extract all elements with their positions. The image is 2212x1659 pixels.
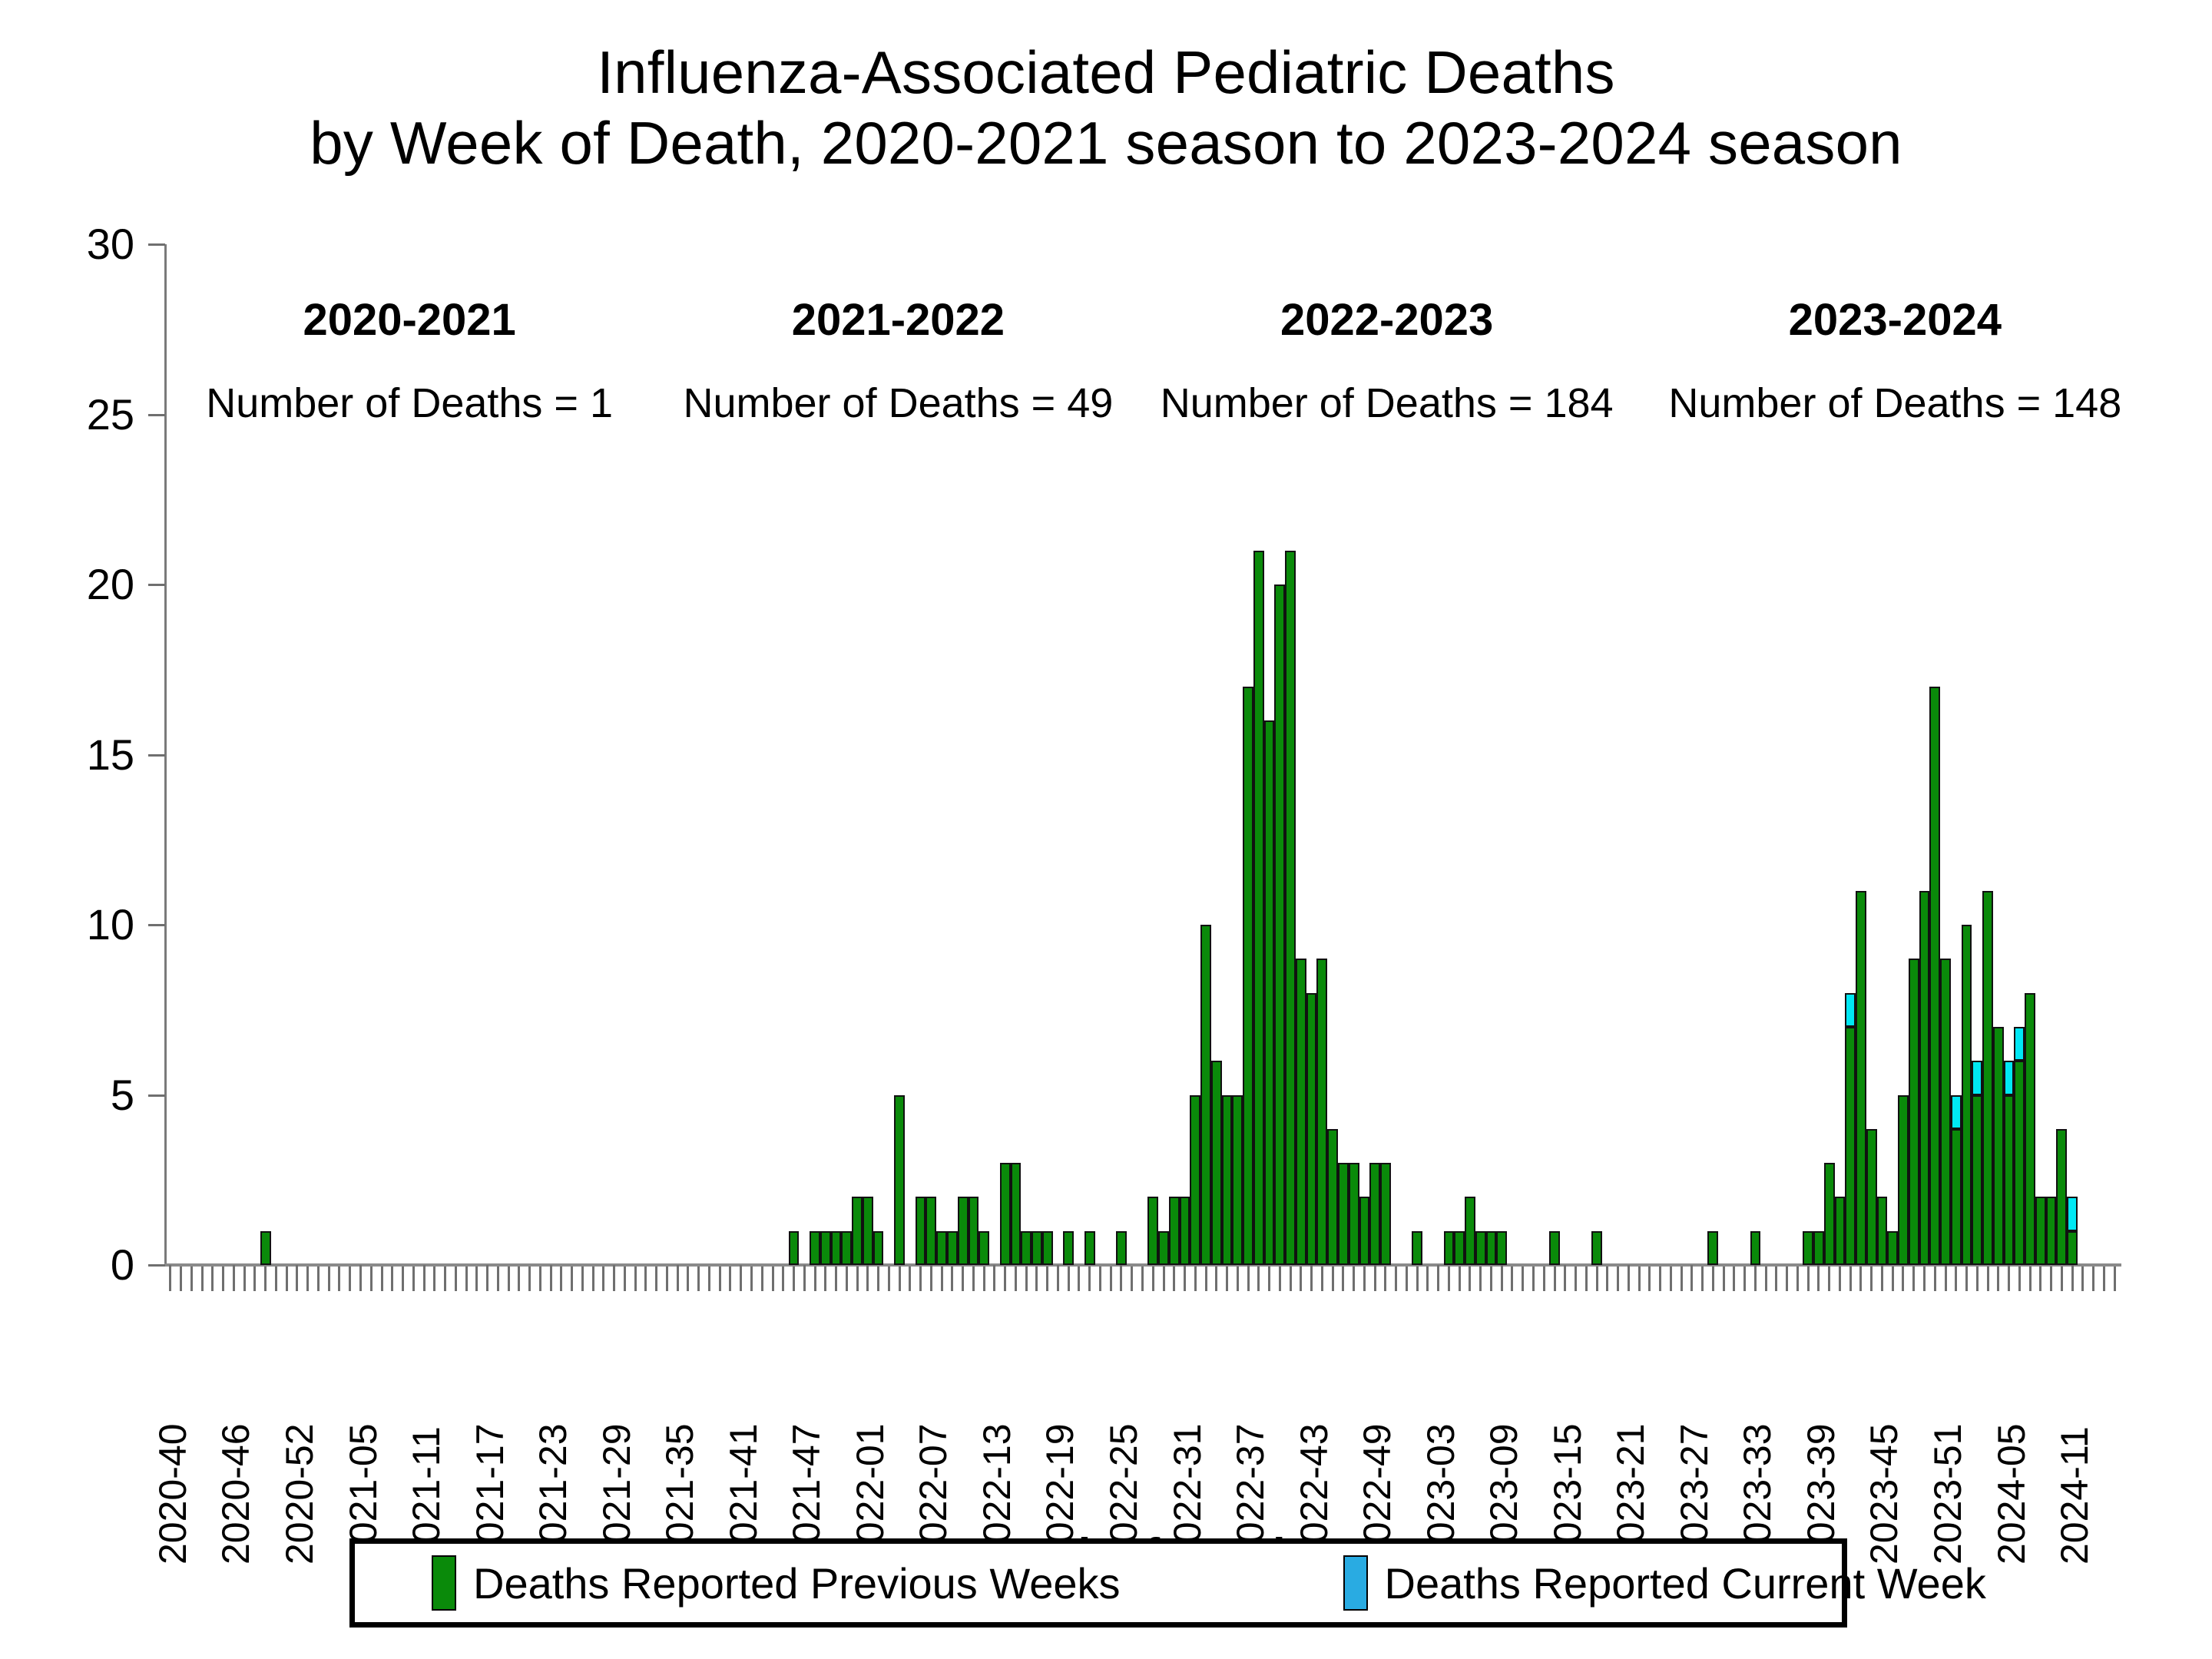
bar [1412, 1231, 1422, 1265]
bar [1824, 1163, 1835, 1265]
x-axis-tick [1426, 1267, 1429, 1291]
bar [1972, 1061, 1982, 1265]
x-axis-tick [1300, 1267, 1302, 1291]
x-axis-tick [1807, 1267, 1810, 1291]
bar-segment-previous-weeks [1031, 1231, 1042, 1265]
x-axis-tick-major [613, 1265, 615, 1291]
bar [1338, 1163, 1349, 1265]
bar-segment-previous-weeks [947, 1231, 958, 1265]
x-axis-tick [581, 1267, 584, 1291]
x-axis-tick-major [930, 1265, 932, 1291]
x-axis-tick [1522, 1267, 1524, 1291]
x-axis-tick [264, 1267, 267, 1291]
x-axis-tick [1131, 1267, 1133, 1291]
x-axis-tick [328, 1267, 330, 1291]
bar-segment-previous-weeks [863, 1197, 873, 1265]
x-axis-tick [1384, 1267, 1386, 1291]
legend-item-current-week: Deaths Reported Current Week [1343, 1555, 1986, 1611]
plot-area: 051015202530 2020-402020-462020-522021-0… [165, 244, 2120, 1265]
season-death-count: Number of Deaths = 148 [1549, 379, 2212, 427]
x-axis-tick [1363, 1267, 1366, 1291]
bar [1909, 959, 1919, 1265]
x-axis-tick [2061, 1267, 2063, 1291]
bar [1180, 1197, 1190, 1265]
legend-item-previous-weeks: Deaths Reported Previous Weeks [432, 1555, 1121, 1611]
bar [1200, 925, 1211, 1265]
x-axis-tick [508, 1267, 510, 1291]
bar [1856, 891, 1866, 1265]
x-axis-tick-major [1247, 1265, 1250, 1291]
y-axis-tick-label: 20 [0, 563, 134, 606]
bar [1866, 1129, 1877, 1265]
bar-segment-previous-weeks [1158, 1231, 1169, 1265]
bar-segment-previous-weeks [1063, 1231, 1074, 1265]
x-axis-tick [761, 1267, 763, 1291]
x-axis-tick-label: 2021-17 [475, 1299, 505, 1575]
y-axis-tick [148, 584, 165, 586]
x-axis-tick-major [993, 1265, 995, 1291]
bar-segment-previous-weeks [2035, 1197, 2046, 1265]
bar-segment-previous-weeks [1486, 1231, 1497, 1265]
x-axis-tick [719, 1267, 721, 1291]
chart-title-line-1: Influenza-Associated Pediatric Deaths [597, 38, 1614, 106]
x-axis-tick-label: 2022-37 [1236, 1299, 1265, 1575]
x-axis-tick [1712, 1267, 1714, 1291]
x-axis-tick [1796, 1267, 1799, 1291]
x-axis-tick-major [1690, 1265, 1693, 1291]
x-axis-tick-label: 2021-11 [412, 1299, 441, 1575]
x-axis-tick [1532, 1267, 1535, 1291]
x-axis-tick [1226, 1267, 1228, 1291]
x-axis-tick [1681, 1267, 1683, 1291]
legend-swatch-current-week [1343, 1555, 1368, 1611]
x-axis-tick [644, 1267, 647, 1291]
x-axis-tick-label: 2023-15 [1553, 1299, 1582, 1575]
x-axis-tick [2092, 1267, 2094, 1291]
x-axis-tick [1490, 1267, 1492, 1291]
x-axis-tick-label: 2024-05 [1997, 1299, 2026, 1575]
x-axis-tick-label: 2021-41 [729, 1299, 758, 1575]
x-axis-tick [1469, 1267, 1471, 1291]
x-axis-tick [655, 1267, 657, 1291]
x-axis-tick-label: 2021-05 [349, 1299, 378, 1575]
bar [1021, 1231, 1031, 1265]
bar [1222, 1095, 1233, 1266]
x-axis-tick [253, 1267, 256, 1291]
x-axis-tick [1786, 1267, 1788, 1291]
x-axis-tick [1870, 1267, 1873, 1291]
bar-segment-previous-weeks [958, 1197, 969, 1265]
x-axis-tick [2029, 1267, 2032, 1291]
x-axis-tick [412, 1267, 415, 1291]
x-axis-tick [1152, 1267, 1154, 1291]
x-axis-tick-label: 2022-25 [1109, 1299, 1138, 1575]
x-axis-tick-label: 2023-51 [1933, 1299, 1962, 1575]
bar-segment-previous-weeks [1274, 584, 1285, 1265]
x-axis-tick [1025, 1267, 1028, 1291]
x-axis-tick-label: 2020-52 [285, 1299, 314, 1575]
x-axis-tick [941, 1267, 943, 1291]
bar-segment-previous-weeks [1011, 1163, 1022, 1265]
bar-segment-previous-weeks [1180, 1197, 1190, 1265]
bar-segment-previous-weeks [936, 1231, 947, 1265]
bar-segment-previous-weeks [1993, 1027, 2004, 1265]
bar-segment-previous-weeks [1380, 1163, 1391, 1265]
bar [2067, 1197, 2078, 1265]
bar-segment-previous-weeks [841, 1231, 852, 1265]
bar-segment-previous-weeks [1919, 891, 1930, 1265]
x-axis-tick [708, 1267, 710, 1291]
x-axis-tick-label: 2023-09 [1489, 1299, 1518, 1575]
x-axis-tick-major [233, 1265, 235, 1291]
bar-segment-previous-weeks [1253, 551, 1264, 1265]
bar-segment-previous-weeks [1887, 1231, 1898, 1265]
x-axis-tick [1648, 1267, 1651, 1291]
x-axis-tick [528, 1267, 531, 1291]
x-axis-tick [2018, 1267, 2021, 1291]
bar [969, 1197, 979, 1265]
x-axis-tick [1659, 1267, 1661, 1291]
bar-segment-previous-weeks [873, 1231, 884, 1265]
x-axis-tick-label: 2021-35 [665, 1299, 694, 1575]
x-axis-tick [846, 1267, 848, 1291]
x-axis-tick [2039, 1267, 2041, 1291]
bar [1369, 1163, 1380, 1265]
x-axis-tick-major [677, 1265, 679, 1291]
x-axis-tick [1912, 1267, 1915, 1291]
x-axis-tick [793, 1267, 795, 1291]
x-axis-tick [1194, 1267, 1197, 1291]
x-axis-tick [211, 1267, 214, 1291]
bar [1380, 1163, 1391, 1265]
bar [1031, 1231, 1042, 1265]
x-axis-tick [444, 1267, 446, 1291]
bar [1274, 584, 1285, 1265]
bar-segment-previous-weeks [2046, 1197, 2057, 1265]
x-axis-tick [1987, 1267, 1989, 1291]
x-axis-tick [1110, 1267, 1112, 1291]
bar-segment-previous-weeks [1898, 1095, 1909, 1266]
bar [1232, 1095, 1243, 1266]
x-axis-tick [1479, 1267, 1482, 1291]
bar [1211, 1061, 1222, 1265]
bar-segment-previous-weeks [810, 1231, 820, 1265]
x-axis-tick [919, 1267, 922, 1291]
bar [1475, 1231, 1486, 1265]
x-axis-tick [856, 1267, 859, 1291]
bar-segment-previous-weeks [2025, 993, 2035, 1265]
x-axis-tick [1670, 1267, 1672, 1291]
x-axis-tick [983, 1267, 985, 1291]
x-axis-tick [1321, 1267, 1323, 1291]
x-axis-tick-label: 2020-46 [221, 1299, 250, 1575]
legend-label-previous-weeks: Deaths Reported Previous Weeks [473, 1558, 1121, 1608]
x-axis-tick-major [169, 1265, 171, 1291]
bar-segment-previous-weeks [260, 1231, 271, 1265]
bar [852, 1197, 863, 1265]
bar [1486, 1231, 1497, 1265]
x-axis-tick [1395, 1267, 1397, 1291]
x-axis-tick [1775, 1267, 1777, 1291]
x-axis-tick [2114, 1267, 2116, 1291]
bar-segment-previous-weeks [1116, 1231, 1127, 1265]
bar [1243, 687, 1253, 1265]
bar-segment-previous-weeks [979, 1231, 989, 1265]
bar [873, 1231, 884, 1265]
x-axis-tick [1459, 1267, 1461, 1291]
x-axis-tick-label: 2022-19 [1045, 1299, 1075, 1575]
x-axis-tick [2103, 1267, 2105, 1291]
bar [2046, 1197, 2057, 1265]
bar-segment-previous-weeks [1222, 1095, 1233, 1266]
x-axis-tick-major [1564, 1265, 1566, 1291]
bar [1264, 720, 1275, 1265]
x-axis-tick [2050, 1267, 2052, 1291]
season-name: 2023-2024 [1549, 294, 2212, 346]
x-axis-tick [391, 1267, 393, 1291]
x-axis-tick [1892, 1267, 1894, 1291]
x-axis-tick [1046, 1267, 1048, 1291]
bar-segment-previous-weeks [789, 1231, 800, 1265]
bar-segment-previous-weeks [926, 1197, 936, 1265]
x-axis-tick [1554, 1267, 1556, 1291]
x-axis-tick [1353, 1267, 1355, 1291]
x-axis-tick-major [550, 1265, 552, 1291]
bar-segment-previous-weeks [1454, 1231, 1465, 1265]
x-axis-tick-major [1057, 1265, 1059, 1291]
x-axis-tick [1004, 1267, 1006, 1291]
x-axis-tick [1543, 1267, 1545, 1291]
bar-segment-previous-weeks [1200, 925, 1211, 1265]
x-axis-tick-label: 2021-29 [602, 1299, 631, 1575]
x-axis-tick [201, 1267, 204, 1291]
x-axis-tick-label: 2024-11 [2060, 1299, 2089, 1575]
bar-segment-previous-weeks [1306, 993, 1317, 1265]
bar-segment-previous-weeks [1824, 1163, 1835, 1265]
x-axis-tick [190, 1267, 193, 1291]
bar-segment-previous-weeks [1316, 959, 1327, 1265]
bar-segment-previous-weeks [1349, 1163, 1359, 1265]
bar [1359, 1197, 1370, 1265]
x-axis-tick-label: 2022-01 [856, 1299, 885, 1575]
x-axis-tick [899, 1267, 901, 1291]
x-axis-tick [433, 1267, 435, 1291]
bar-segment-previous-weeks [1412, 1231, 1422, 1265]
x-axis-tick [381, 1267, 383, 1291]
bar-segment-previous-weeks [1327, 1129, 1338, 1265]
x-axis-tick [1099, 1267, 1101, 1291]
legend-swatch-previous-weeks [432, 1555, 456, 1611]
x-axis-tick-label: 2023-45 [1869, 1299, 1899, 1575]
x-axis-tick [1976, 1267, 1979, 1291]
bar [1929, 687, 1940, 1265]
x-axis-tick [782, 1267, 784, 1291]
x-axis-tick [687, 1267, 689, 1291]
x-axis-tick-label: 2022-43 [1300, 1299, 1329, 1575]
bar-segment-previous-weeks [1359, 1197, 1370, 1265]
x-axis-tick-label: 2023-33 [1743, 1299, 1772, 1575]
bar-segment-previous-weeks [1940, 959, 1951, 1265]
x-axis-tick [624, 1267, 626, 1291]
bar [1253, 551, 1264, 1265]
x-axis-tick-major [1754, 1265, 1757, 1291]
bar-segment-previous-weeks [1211, 1061, 1222, 1265]
x-axis-tick [962, 1267, 964, 1291]
x-axis-tick [1606, 1267, 1608, 1291]
bar-segment-previous-weeks [1496, 1231, 1507, 1265]
x-axis-tick [814, 1267, 816, 1291]
bar-segment-previous-weeks [831, 1231, 842, 1265]
bar [1835, 1197, 1846, 1265]
y-axis-tick-label: 0 [0, 1243, 134, 1286]
bar-segment-previous-weeks [1750, 1231, 1761, 1265]
x-axis-tick [571, 1267, 573, 1291]
x-axis-tick-major [1310, 1265, 1313, 1291]
bar [894, 1095, 905, 1266]
bar-segment-previous-weeks [1369, 1163, 1380, 1265]
x-axis-tick [634, 1267, 637, 1291]
x-axis-tick [1268, 1267, 1270, 1291]
x-axis-tick [1585, 1267, 1588, 1291]
bar-segment-previous-weeks [1856, 891, 1866, 1265]
bar-segment-previous-weeks [1042, 1231, 1053, 1265]
bar-segment-previous-weeks [1835, 1197, 1846, 1265]
x-axis-tick [697, 1267, 700, 1291]
x-axis-tick [1416, 1267, 1419, 1291]
bar-segment-previous-weeks [916, 1197, 926, 1265]
x-axis-tick [1332, 1267, 1334, 1291]
bar-segment-previous-weeks [1190, 1095, 1200, 1266]
x-axis-tick [729, 1267, 731, 1291]
x-axis-tick [750, 1267, 753, 1291]
x-axis-tick [560, 1267, 562, 1291]
bar [1042, 1231, 1053, 1265]
x-axis-tick [1596, 1267, 1598, 1291]
x-axis-tick [497, 1267, 499, 1291]
x-axis-tick [338, 1267, 340, 1291]
x-axis-tick-major [2008, 1265, 2010, 1291]
x-axis-tick [1617, 1267, 1619, 1291]
bar [1845, 993, 1856, 1265]
x-axis-tick [1828, 1267, 1830, 1291]
bar-segment-previous-weeks [1803, 1231, 1813, 1265]
bar-segment-previous-weeks [894, 1095, 905, 1266]
x-axis-tick-major [1437, 1265, 1439, 1291]
x-axis-tick [370, 1267, 373, 1291]
x-axis-tick [1965, 1267, 1968, 1291]
x-axis-tick [1923, 1267, 1926, 1291]
bar [789, 1231, 800, 1265]
bar [1169, 1197, 1180, 1265]
x-axis-tick-label: 2023-21 [1616, 1299, 1645, 1575]
x-axis-tick-label: 2023-39 [1806, 1299, 1836, 1575]
x-axis-tick [1955, 1267, 1957, 1291]
bar-segment-previous-weeks [1845, 1027, 1856, 1265]
bar [2056, 1129, 2067, 1265]
x-axis-tick [972, 1267, 975, 1291]
bar [1327, 1129, 1338, 1265]
x-axis-tick-major [359, 1265, 362, 1291]
bar-segment-previous-weeks [1232, 1095, 1243, 1266]
bar-segment-previous-weeks [1296, 959, 1306, 1265]
x-axis-tick [1733, 1267, 1735, 1291]
bar-segment-previous-weeks [1444, 1231, 1455, 1265]
x-axis-tick [1849, 1267, 1852, 1291]
bar [1951, 1095, 1962, 1266]
x-axis-tick-label: 2022-31 [1173, 1299, 1202, 1575]
x-axis-tick [455, 1267, 457, 1291]
bar [1877, 1197, 1888, 1265]
bar [936, 1231, 947, 1265]
x-axis-tick-major [2071, 1265, 2074, 1291]
bar [1116, 1231, 1127, 1265]
bar-segment-current-week [1845, 993, 1856, 1027]
bar-segment-previous-weeks [1264, 720, 1275, 1265]
bar [1707, 1231, 1718, 1265]
x-axis-tick [1173, 1267, 1175, 1291]
bar-segment-previous-weeks [1929, 687, 1940, 1265]
x-axis-tick [1902, 1267, 1904, 1291]
bar [1147, 1197, 1158, 1265]
bar [2025, 993, 2035, 1265]
bar-segment-previous-weeks [2056, 1129, 2067, 1265]
bar-segment-previous-weeks [852, 1197, 863, 1265]
x-axis-tick [1279, 1267, 1281, 1291]
x-axis-tick [1701, 1267, 1704, 1291]
bar-segment-previous-weeks [1909, 959, 1919, 1265]
x-axis-tick [1997, 1267, 1999, 1291]
x-axis-tick [951, 1267, 953, 1291]
bar [979, 1231, 989, 1265]
x-axis-tick [1257, 1267, 1260, 1291]
x-axis-tick [666, 1267, 668, 1291]
x-axis-tick-label: 2020-40 [158, 1299, 187, 1575]
bar [831, 1231, 842, 1265]
chart-canvas: Influenza-Associated Pediatric Deaths by… [0, 0, 2212, 1659]
x-axis-tick-label: 2021-23 [538, 1299, 568, 1575]
x-axis-tick-major [740, 1265, 742, 1291]
x-axis-tick-major [1881, 1265, 1883, 1291]
x-axis-tick [465, 1267, 468, 1291]
y-axis-tick [148, 243, 165, 246]
x-axis-tick [1934, 1267, 1936, 1291]
bar [958, 1197, 969, 1265]
bar-segment-previous-weeks [1285, 551, 1296, 1265]
x-axis-tick [243, 1267, 246, 1291]
x-axis-tick-major [423, 1265, 426, 1291]
x-axis-tick [1511, 1267, 1513, 1291]
bar-segment-previous-weeks [1866, 1129, 1877, 1265]
x-axis-tick [286, 1267, 288, 1291]
chart-legend: Deaths Reported Previous Weeks Deaths Re… [349, 1538, 1847, 1628]
bar [1444, 1231, 1455, 1265]
x-axis-tick [1638, 1267, 1641, 1291]
x-axis-tick [602, 1267, 604, 1291]
bar [2035, 1197, 2046, 1265]
x-axis-tick [1859, 1267, 1862, 1291]
bar-segment-previous-weeks [1982, 891, 1993, 1265]
bar [1750, 1231, 1761, 1265]
bar-segment-previous-weeks [820, 1231, 831, 1265]
x-axis-tick-major [866, 1265, 869, 1291]
bar [1000, 1163, 1011, 1265]
x-axis-tick [222, 1267, 224, 1291]
bar-segment-previous-weeks [1243, 687, 1253, 1265]
bar [1993, 1027, 2004, 1265]
bar-segment-previous-weeks [1021, 1231, 1031, 1265]
bar [1803, 1231, 1813, 1265]
x-axis-tick [1290, 1267, 1292, 1291]
